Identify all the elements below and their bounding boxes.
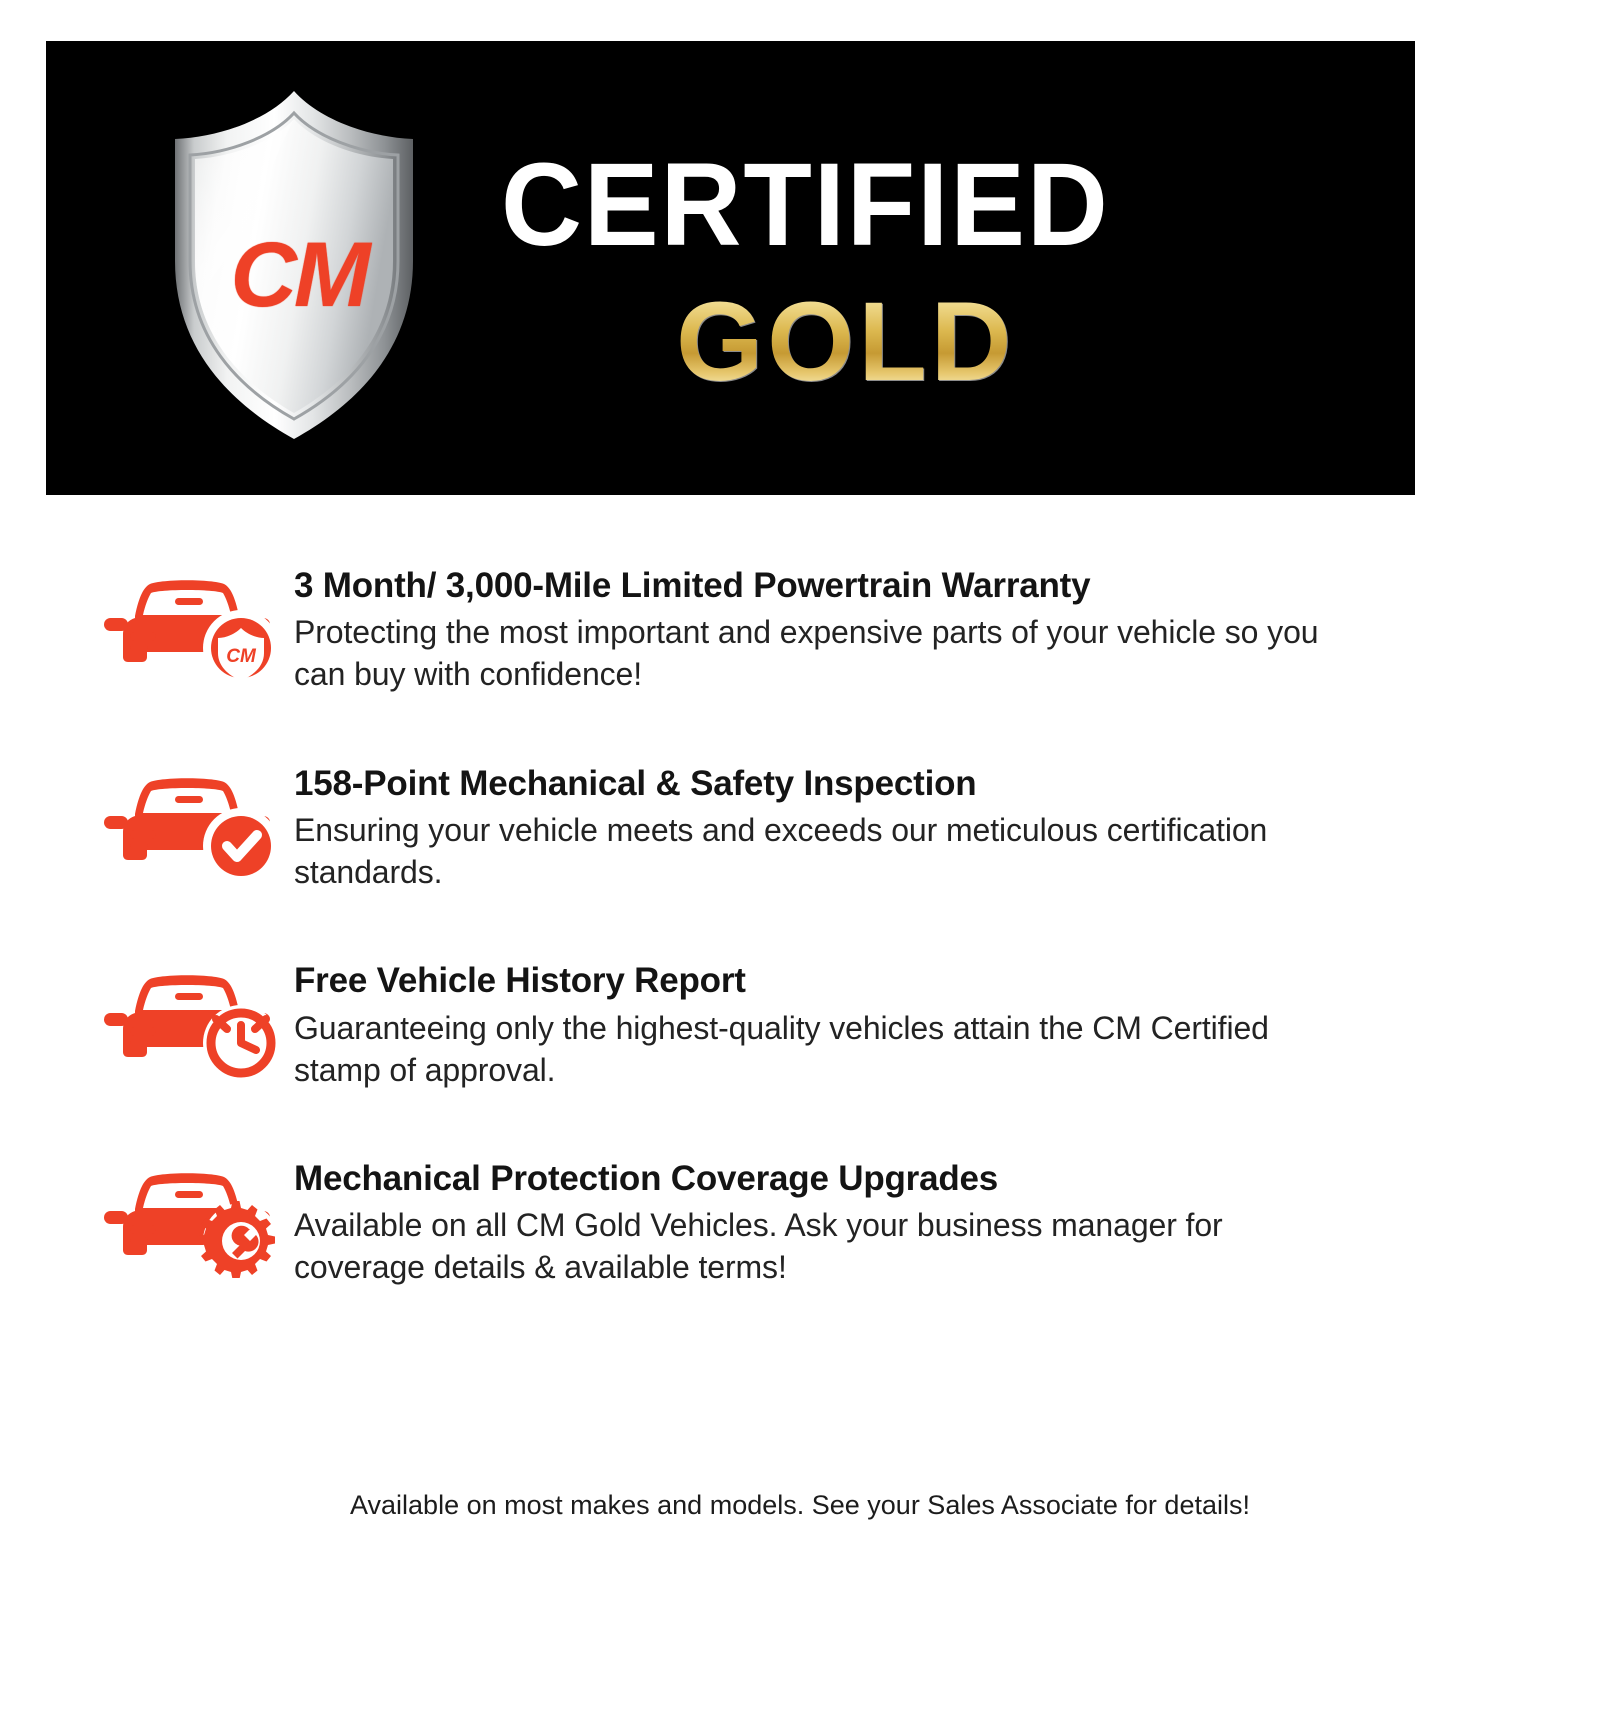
certified-gold-flyer: CM CERTIFIED GOLD xyxy=(0,0,1600,1719)
header-banner: CM CERTIFIED GOLD xyxy=(46,41,1415,495)
feature-title: Free Vehicle History Report xyxy=(294,961,1540,1000)
feature-description: Ensuring your vehicle meets and exceeds … xyxy=(294,809,1354,893)
car-with-gear-wrench-badge-icon xyxy=(104,1153,294,1278)
feature-item: Free Vehicle History Report Guaranteeing… xyxy=(0,955,1600,1091)
feature-description: Available on all CM Gold Vehicles. Ask y… xyxy=(294,1204,1354,1288)
feature-list: CM 3 Month/ 3,000-Mile Limited Powertrai… xyxy=(0,560,1600,1351)
banner-title-certified: CERTIFIED xyxy=(501,146,1110,264)
shield-icon: CM xyxy=(159,85,429,445)
feature-title: 3 Month/ 3,000-Mile Limited Powertrain W… xyxy=(294,566,1540,605)
feature-description: Guaranteeing only the highest-quality ve… xyxy=(294,1007,1354,1091)
feature-title: 158-Point Mechanical & Safety Inspection xyxy=(294,764,1540,803)
cm-monogram: CM xyxy=(219,220,379,330)
feature-item: 158-Point Mechanical & Safety Inspection… xyxy=(0,758,1600,894)
banner-title-gold: GOLD xyxy=(676,286,1016,398)
car-with-cm-shield-badge-icon: CM xyxy=(104,560,294,685)
feature-item: CM 3 Month/ 3,000-Mile Limited Powertrai… xyxy=(0,560,1600,696)
car-with-checkmark-badge-icon xyxy=(104,758,294,883)
car-with-clock-badge-icon xyxy=(104,955,294,1080)
footer-disclaimer: Available on most makes and models. See … xyxy=(0,1488,1600,1523)
feature-description: Protecting the most important and expens… xyxy=(294,611,1354,695)
svg-text:CM: CM xyxy=(226,646,257,667)
feature-title: Mechanical Protection Coverage Upgrades xyxy=(294,1159,1540,1198)
feature-item: Mechanical Protection Coverage Upgrades … xyxy=(0,1153,1600,1289)
